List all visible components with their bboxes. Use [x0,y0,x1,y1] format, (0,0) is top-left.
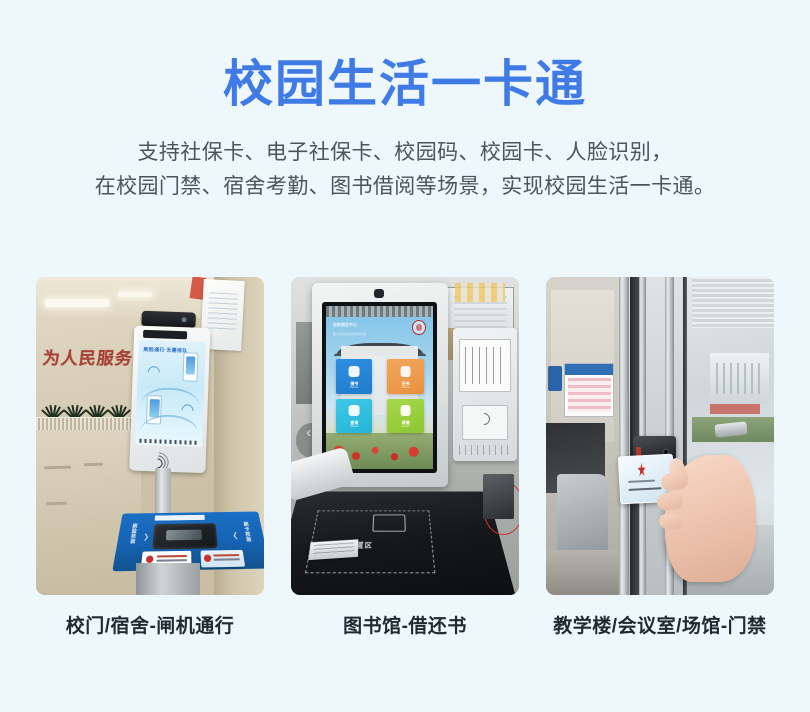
side-panel-footnote [459,445,510,454]
page-root: 校园生活一卡通 支持社保卡、电子社保卡、校园码、校园卡、人脸识别， 在校园门禁、… [0,0,810,712]
phone-illustration-1 [182,352,198,382]
gate-sticker-right [200,550,245,567]
gate-brand-label [155,515,205,521]
ceiling-light-icon-2 [118,292,152,298]
outdoor-building [710,353,769,404]
wall-calligraphy: 为人民服务 [42,344,135,369]
lobby-plants [38,382,138,420]
terminal-camera-icon [141,311,195,328]
gate-scan-pad [152,524,218,550]
turnstile-base [136,563,200,595]
card-sensor-pad[interactable] [462,405,508,440]
photo-library-kiosk: 自助借还中心 图书馆自助服务终端系统 借书 Borrow [291,277,519,595]
national-emblem-icon [637,462,646,477]
scenario-card-door-access[interactable]: 教学楼/会议室/场馆-门禁 [546,277,774,638]
kiosk-tile-return[interactable]: 还书 Return [387,359,423,393]
library-shelf-signs [455,283,505,302]
page-title: 校园生活一卡通 [0,54,810,114]
card-title-line [628,479,654,482]
gate-text-left: 刷脸核验 [129,524,139,544]
poster-header [565,364,613,375]
terminal-screen-title: 刷脸通行 无需排队 [143,347,187,355]
subtitle-line-2: 在校园门禁、宿舍考勤、图书借阅等场景，实现校园生活一卡通。 [0,170,810,204]
scenario-panels: 为人民服务 [36,277,774,638]
door-frame-1 [619,277,629,595]
kiosk-tile-borrow-sub: Borrow [336,386,372,389]
kiosk-camera-icon [374,289,384,297]
header: 校园生活一卡通 支持社保卡、电子社保卡、校园码、校园卡、人脸识别， 在校园门禁、… [0,0,810,204]
return-icon [400,366,411,377]
lobby-railing [36,417,132,430]
kiosk-tile-search[interactable]: 查询 Search [336,399,372,433]
indoor-bench [557,474,607,557]
finger-1 [660,471,689,491]
scenario-card-library[interactable]: 自助借还中心 图书馆自助服务终端系统 借书 Borrow [291,277,519,638]
terminal-pole [155,468,171,519]
indoor-floor [546,550,621,595]
kiosk-tile-renew-sub: Renew [387,425,423,428]
ceiling-light-icon [45,299,109,307]
photo-door-access [546,277,774,595]
kiosk-screen: 自助借还中心 图书馆自助服务终端系统 借书 Borrow [326,306,433,469]
borrow-icon [349,366,360,377]
poster-body [568,378,610,411]
screen-arc-1 [140,386,200,407]
nfc-wave-icon-1 [145,363,162,380]
kiosk-tile-renew[interactable]: 续借 Renew [387,399,423,433]
placed-book [308,538,358,559]
caption-library: 图书馆-借还书 [343,611,467,638]
hand-holding-card [665,455,756,582]
book-icon [373,514,407,532]
kiosk-screen-title: 自助借还中心 [333,322,357,328]
caption-door-access: 教学楼/会议室/场馆-门禁 [553,611,766,638]
gate-text-right: 刷卡核验 [242,522,252,542]
outdoor-awning [710,404,760,414]
caption-gate: 校门/宿舍-闸机通行 [66,611,235,638]
page-subtitle: 支持社保卡、电子社保卡、校园码、校园卡、人脸识别， 在校园门禁、宿舍考勤、图书借… [0,136,810,204]
finger-3 [659,513,684,530]
kiosk-tile-search-sub: Search [336,425,372,428]
renew-icon [400,405,411,416]
kiosk-side-panel [453,328,517,462]
card-subtitle-line [629,487,662,491]
photo-gate-turnstile: 为人民服务 [36,277,264,595]
gate-arrow-left-icon: 〉 [144,532,153,542]
kiosk-screen-bezel: 自助借还中心 图书馆自助服务终端系统 借书 Borrow [322,302,437,473]
terminal-screen: 刷脸通行 无需排队 [135,340,206,447]
kiosk-tile-borrow[interactable]: 借书 Borrow [336,359,372,393]
gate-arrow-right-icon: 〈 [229,531,238,541]
scenario-card-gate[interactable]: 为人民服务 [36,277,264,638]
kiosk-screen-subtitle: 图书馆自助服务终端系统 [333,332,366,336]
kiosk-tile-return-sub: Return [387,386,423,389]
finger-2 [657,493,683,511]
tray-right-module [483,474,515,519]
face-recognition-terminal: 刷脸通行 无需排队 [129,311,221,479]
terminal-body: 刷脸通行 无需排队 [129,325,210,473]
blue-wall-sign [548,366,562,391]
notice-poster [564,363,614,417]
subtitle-line-1: 支持社保卡、电子社保卡、校园码、校园卡、人脸识别， [0,136,810,170]
outdoor-ceiling [692,277,774,328]
kiosk-screen-top-strip [326,306,433,317]
search-icon [349,405,360,416]
school-emblem-icon [412,320,426,335]
instruction-card [459,339,511,392]
terminal-top-bar [143,330,187,339]
screen-bottom-strip [139,439,198,445]
